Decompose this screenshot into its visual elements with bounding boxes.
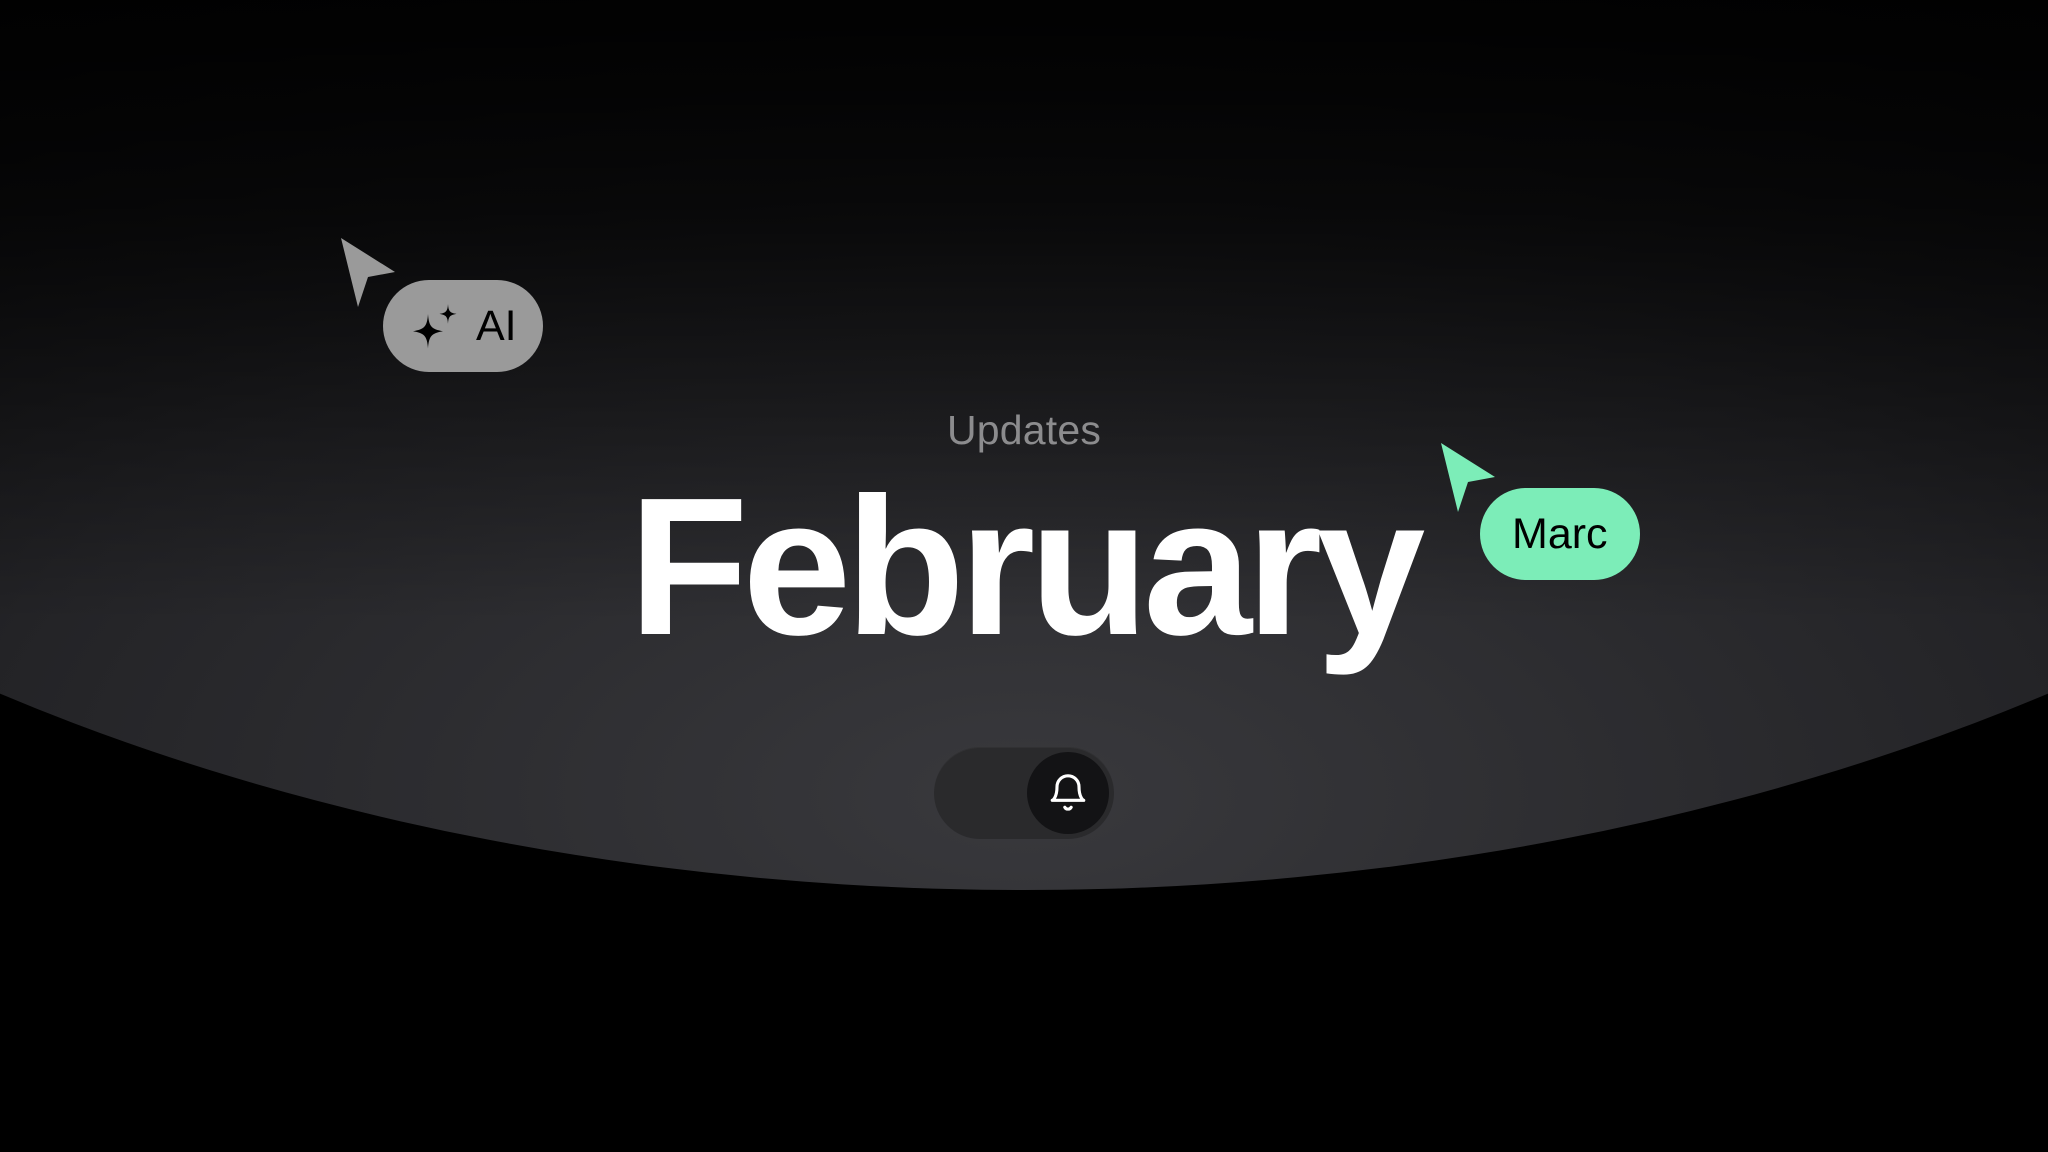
cursor-ai-label: AI — [476, 305, 517, 348]
cursor-marc-label: Marc — [1512, 513, 1608, 556]
page-title: February — [629, 473, 1420, 661]
hero-content: Updates February — [0, 0, 2048, 1152]
notification-toggle[interactable] — [934, 747, 1114, 839]
updates-hero-screen: Updates February — [0, 0, 2048, 1152]
sparkle-icon — [409, 300, 461, 352]
cursor-ai-pill[interactable]: AI — [383, 280, 543, 372]
page-eyebrow: Updates — [947, 410, 1101, 451]
bell-icon — [1046, 771, 1090, 815]
notification-toggle-knob[interactable] — [1027, 752, 1109, 834]
cursor-marc-pill[interactable]: Marc — [1480, 488, 1640, 580]
